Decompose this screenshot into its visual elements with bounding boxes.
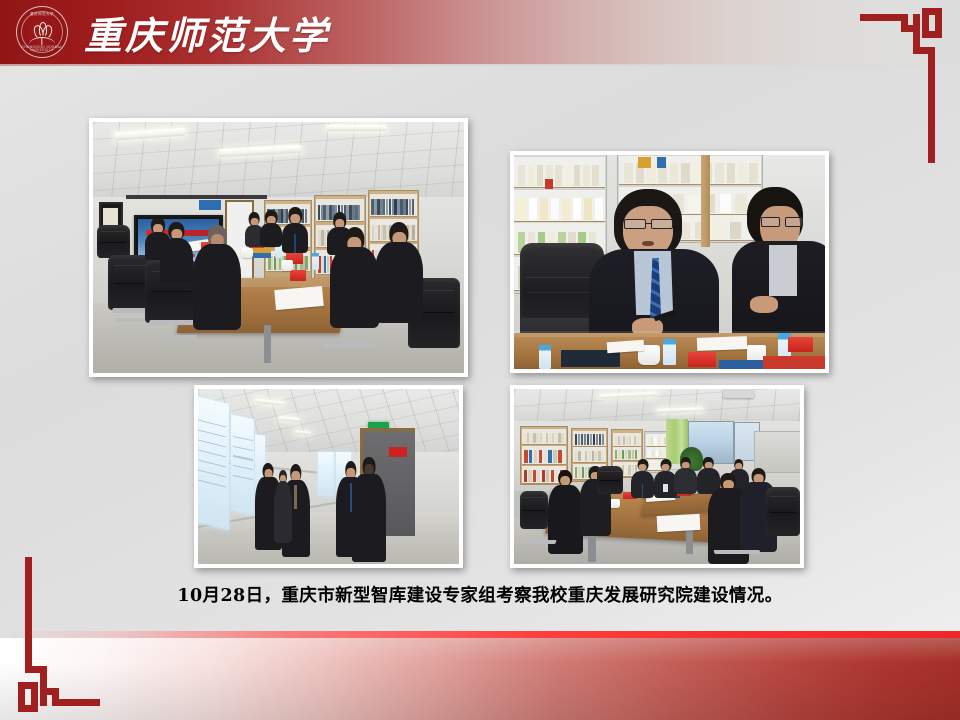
photo-content <box>514 155 825 369</box>
corridor-visit-photo[interactable] <box>194 385 463 568</box>
meeting-room-wide-photo[interactable] <box>89 118 468 377</box>
speaker-closeup-photo[interactable] <box>510 151 829 373</box>
seal-text-bottom: CHONGQING NORMAL UNIVERSITY <box>17 46 67 52</box>
meeting-room-overview-photo[interactable] <box>510 385 804 568</box>
university-seal-icon: 重庆师范大学 CHONGQING NORMAL UNIVERSITY <box>16 6 68 58</box>
footer-accent-stripe <box>0 631 960 638</box>
chinese-corner-ornament-icon-top-right <box>860 8 942 163</box>
slide-caption: 10月28日，重庆市新型智库建设专家组考察我校重庆发展研究院建设情况。 <box>0 582 960 607</box>
photo-content <box>93 122 464 373</box>
photo-content <box>514 389 800 564</box>
chinese-corner-ornament-icon-bottom-left <box>18 557 100 712</box>
seal-text-top: 重庆师范大学 <box>17 13 67 17</box>
footer-banner-shading <box>0 638 960 720</box>
header-divider <box>0 64 960 66</box>
photo-content <box>198 389 459 564</box>
slide-canvas: 重庆师范大学 CHONGQING NORMAL UNIVERSITY 重庆师范大… <box>0 0 960 720</box>
university-name-title: 重庆师范大学 <box>84 7 330 57</box>
